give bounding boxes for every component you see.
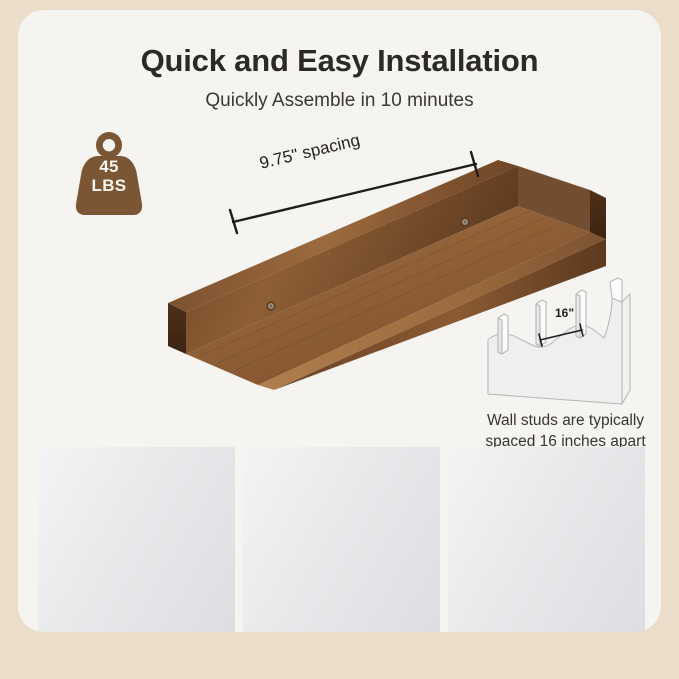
photo-screw-shelf	[448, 447, 645, 632]
weight-capacity-badge: 45 LBS	[72, 128, 146, 220]
photo-drill-hole: BOSCH Professional	[243, 447, 440, 632]
wall-studs-diagram: 16"	[470, 272, 660, 407]
studs-dimension-label: 16"	[555, 306, 574, 320]
installation-step-photos: BOSCH Professional	[38, 447, 660, 632]
wall-studs-caption: Wall studs are typically spaced 16 inche…	[458, 410, 661, 452]
caption-line-1: Wall studs are typically	[458, 410, 661, 431]
shelf-screw-hole	[266, 301, 275, 310]
product-infographic: Quick and Easy Installation Quickly Asse…	[0, 0, 679, 679]
photo-mark-wall-with-level	[38, 447, 235, 632]
page-subtitle: Quickly Assemble in 10 minutes	[18, 90, 661, 112]
wall-background	[448, 447, 645, 632]
wall-background	[38, 447, 235, 632]
spacing-dimension: 9.75" spacing	[208, 132, 498, 237]
content-card: Quick and Easy Installation Quickly Asse…	[18, 10, 661, 632]
page-title: Quick and Easy Installation	[18, 43, 661, 79]
weight-icon	[72, 128, 146, 220]
wall-background	[243, 447, 440, 632]
